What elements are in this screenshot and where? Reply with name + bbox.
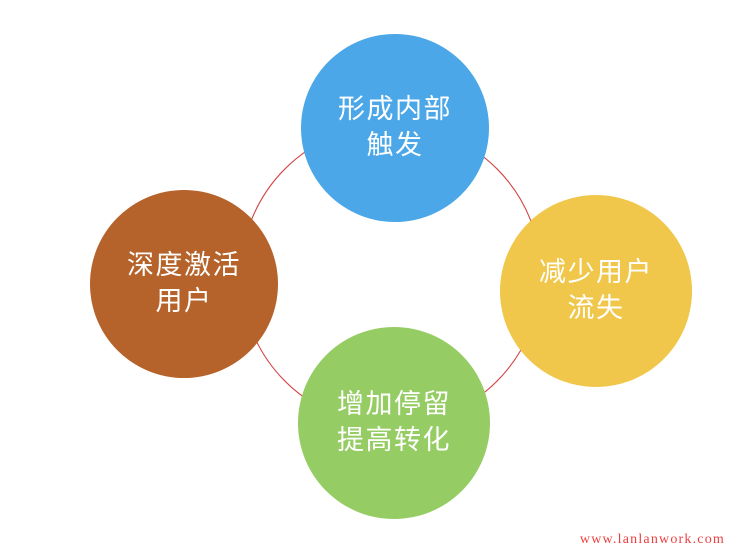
node-label-left: 深度激活 用户 — [127, 248, 241, 319]
diagram-canvas: 形成内部 触发 减少用户 流失 增加停留 提高转化 深度激活 用户 www.la… — [0, 0, 739, 558]
node-circle-bottom[interactable]: 增加停留 提高转化 — [298, 327, 490, 519]
node-circle-top[interactable]: 形成内部 触发 — [301, 34, 489, 222]
watermark-url: www.lanlanwork.com — [580, 532, 725, 548]
node-label-top: 形成内部 触发 — [338, 92, 452, 163]
node-circle-right[interactable]: 减少用户 流失 — [500, 195, 692, 387]
node-circle-left[interactable]: 深度激活 用户 — [90, 190, 278, 378]
node-label-bottom: 增加停留 提高转化 — [337, 387, 451, 458]
node-label-right: 减少用户 流失 — [539, 255, 653, 326]
